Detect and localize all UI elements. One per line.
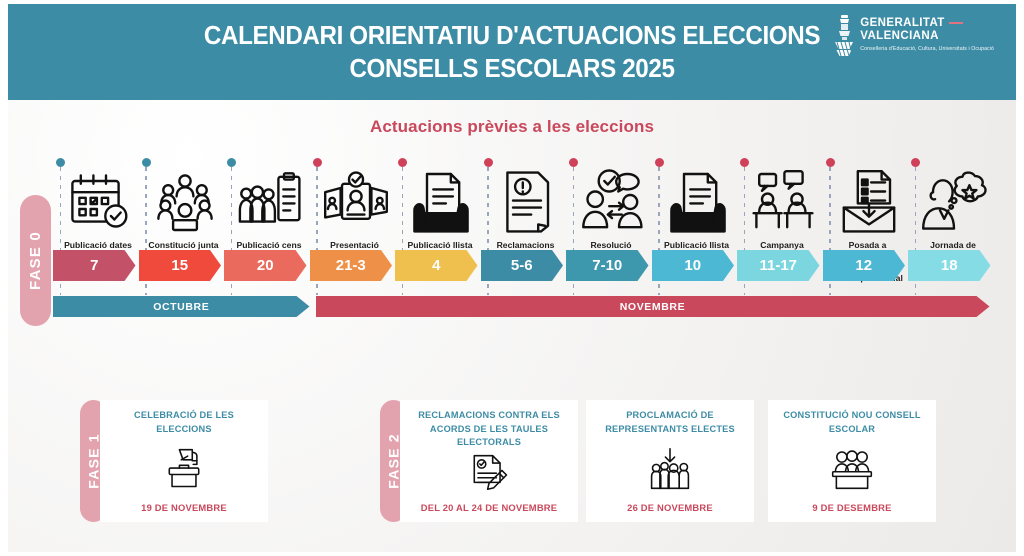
document-pencil-icon [407,450,571,501]
round-table-meeting-icon [150,166,220,238]
people-clipboard-icon [235,166,305,238]
month-bar-octubre: OCTUBRE [53,296,310,317]
candidate-cards-icon [321,166,391,238]
timeline-date-chip: 7 [53,250,136,281]
fase-2-card: CONSTITUCIÓ NOU CONSELL ESCOLAR 9 DE DES… [768,400,936,522]
thinking-person-icon [919,166,989,238]
logo-text-block: GENERALITAT VALENCIANA Conselleria d'Edu… [860,14,994,53]
timeline-date-chip: 18 [908,250,991,281]
document-alert-icon [492,166,562,238]
month-bar-novembre: NOVEMBRE [316,296,990,317]
council-table-icon [775,436,929,501]
logo-line-2: VALENCIANA [860,30,994,43]
fase-1-card: CELEBRACIÓ DE LES ELECCIONS 19 DE NOVEMB… [100,400,268,522]
timeline: Publicació dates sorteig elecció membres… [8,100,1016,390]
card-date: 9 DE DESEMBRE [812,501,891,514]
hands-holding-document-icon [406,166,476,238]
timeline-date-chip: 12 [823,250,906,281]
calendar-check-icon [64,166,134,238]
logo-subtitle: Conselleria d'Educació, Cultura, Univers… [860,46,994,53]
people-exchange-check-icon [577,166,647,238]
generalitat-valenciana-shield-icon [833,14,855,58]
infographic-page: CALENDARI ORIENTATIU D'ACTUACIONS ELECCI… [0,0,1024,556]
header-banner: CALENDARI ORIENTATIU D'ACTUACIONS ELECCI… [8,4,1016,100]
card-title: CELEBRACIÓ DE LES ELECCIONS [107,409,261,436]
card-title: RECLAMACIONS CONTRA ELS ACORDS DE LES TA… [407,409,571,450]
timeline-date-chip: 4 [395,250,478,281]
timeline-date-chip: 20 [224,250,307,281]
campaign-speech-icon [748,166,818,238]
logo-dash [949,22,963,24]
hands-holding-document-icon [663,166,733,238]
page-title: CALENDARI ORIENTATIU D'ACTUACIONS ELECCI… [159,19,866,86]
ballot-envelope-icon [834,166,904,238]
logo-line-1: GENERALITAT [860,17,994,30]
card-date: DEL 20 AL 24 DE NOVEMBRE [421,501,557,514]
generalitat-valenciana-logo: GENERALITAT VALENCIANA Conselleria d'Edu… [833,14,994,58]
timeline-date-chip: 10 [652,250,735,281]
timeline-date-chip: 5-6 [481,250,564,281]
elected-people-arrow-icon [593,436,747,501]
timeline-date-chip: 21-3 [310,250,393,281]
card-date: 26 DE NOVEMBRE [627,501,713,514]
fase-2-card: RECLAMACIONS CONTRA ELS ACORDS DE LES TA… [400,400,578,522]
content-panel: Actuacions prèvies a les eleccions FASE … [8,100,1016,552]
card-title: CONSTITUCIÓ NOU CONSELL ESCOLAR [775,409,929,436]
timeline-date-chip: 11-17 [737,250,820,281]
fase-2-card: PROCLAMACIÓ DE REPRESENTANTS ELECTES 26 … [586,400,754,522]
card-title: PROCLAMACIÓ DE REPRESENTANTS ELECTES [593,409,747,436]
timeline-date-chip: 7-10 [566,250,649,281]
card-date: 19 DE NOVEMBRE [141,501,227,514]
ballot-box-vote-icon [107,436,261,501]
timeline-date-chip: 15 [139,250,222,281]
